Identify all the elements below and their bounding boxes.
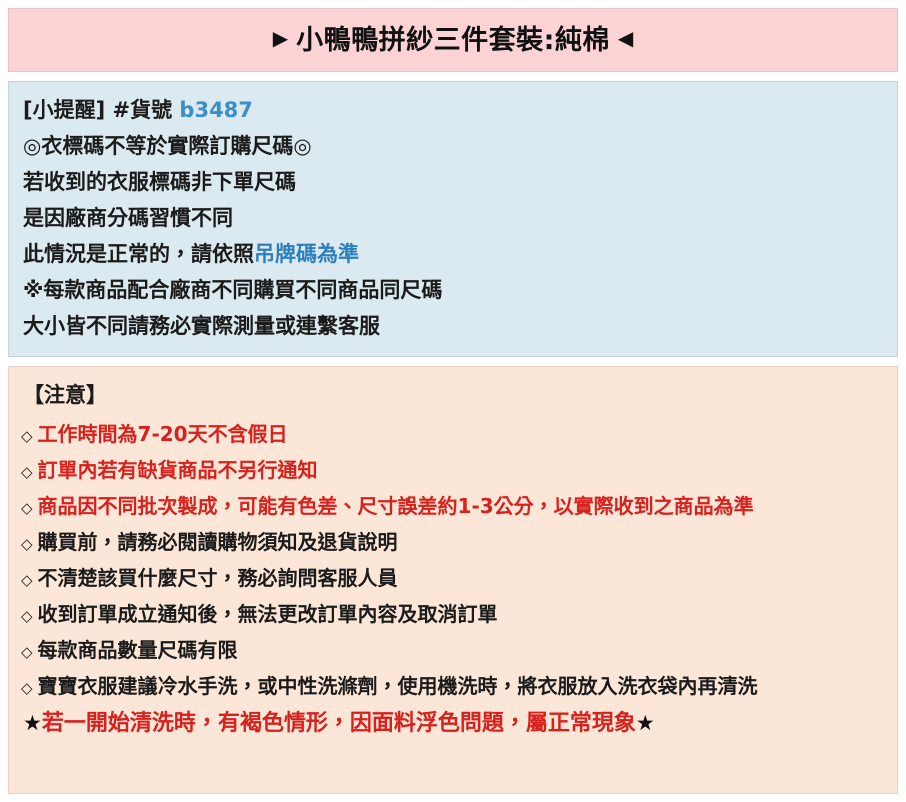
note-text: 每款商品數量尺碼有限 (38, 640, 238, 660)
diamond-bullet-icon: ◇ (21, 573, 33, 588)
note-text: 不清楚該買什麼尺寸，務必詢問客服人員 (38, 568, 398, 588)
diamond-bullet-icon: ◇ (21, 645, 33, 660)
hangtag-line: 此情況是正常的，請依照吊牌碼為準 (23, 236, 883, 272)
footer-note-text: 若一開始清洗時，有褐色情形，因面料浮色問題，屬正常現象 (42, 713, 636, 735)
triangle-left-icon: ◀ (618, 28, 633, 48)
sizing-notice-panel: [小提醒] #貨號 b3487 ◎衣標碼不等於實際訂購尺碼◎ 若收到的衣服標碼非… (8, 81, 898, 357)
product-title-banner: ▶ 小鴨鴨拼紗三件套裝:純棉 ◀ (8, 8, 898, 72)
diamond-bullet-icon: ◇ (21, 609, 33, 624)
note-item: ◇ 購買前，請務必閱讀購物須知及退貨說明 (21, 524, 883, 560)
diamond-bullet-icon: ◇ (21, 501, 33, 516)
note-text: 訂單內若有缺貨商品不另行通知 (38, 460, 318, 480)
product-code: b3487 (179, 98, 252, 122)
sizing-warning-2: 大小皆不同請務必實際測量或連繫客服 (23, 308, 883, 344)
note-text: 寶寶衣服建議冷水手洗，或中性洗滌劑，使用機洗時，將衣服放入洗衣袋內再清洗 (38, 676, 758, 696)
note-text: 工作時間為7-20天不含假日 (38, 424, 288, 444)
note-item: ◇ 工作時間為7-20天不含假日 (21, 416, 883, 452)
tip-label: [小提醒] #貨號 (23, 98, 172, 122)
note-item: ◇ 收到訂單成立通知後，無法更改訂單內容及取消訂單 (21, 596, 883, 632)
note-item: ◇ 每款商品數量尺碼有限 (21, 632, 883, 668)
sizing-warning-1: ※每款商品配合廠商不同購買不同商品同尺碼 (23, 272, 883, 308)
note-item: ◇ 寶寶衣服建議冷水手洗，或中性洗滌劑，使用機洗時，將衣服放入洗衣袋內再清洗 (21, 668, 883, 704)
diamond-bullet-icon: ◇ (21, 429, 33, 444)
color-bleed-footer-note: ★若一開始清洗時，有褐色情形，因面料浮色問題，屬正常現象★ (21, 704, 883, 739)
attention-notice-panel: 【注意】 ◇ 工作時間為7-20天不含假日 ◇ 訂單內若有缺貨商品不另行通知 ◇… (8, 366, 898, 794)
diamond-bullet-icon: ◇ (21, 465, 33, 480)
note-text: 購買前，請務必閱讀購物須知及退貨說明 (38, 532, 398, 552)
sizing-line-3: 是因廠商分碼習慣不同 (23, 200, 883, 236)
diamond-bullet-icon: ◇ (21, 537, 33, 552)
note-text: 商品因不同批次製成，可能有色差、尺寸誤差約1-3公分，以實際收到之商品為準 (38, 496, 754, 516)
product-code-row: [小提醒] #貨號 b3487 (23, 92, 883, 128)
note-item: ◇ 商品因不同批次製成，可能有色差、尺寸誤差約1-3公分，以實際收到之商品為準 (21, 488, 883, 524)
star-right-icon: ★ (636, 713, 655, 734)
attention-heading: 【注意】 (21, 377, 883, 416)
sizing-line-2: 若收到的衣服標碼非下單尺碼 (23, 164, 883, 200)
diamond-bullet-icon: ◇ (21, 681, 33, 696)
note-item: ◇ 不清楚該買什麼尺寸，務必詢問客服人員 (21, 560, 883, 596)
star-left-icon: ★ (23, 713, 42, 734)
hangtag-prefix: 此情況是正常的，請依照 (23, 242, 254, 266)
hangtag-highlight: 吊牌碼為準 (254, 242, 359, 266)
note-item: ◇ 訂單內若有缺貨商品不另行通知 (21, 452, 883, 488)
note-text: 收到訂單成立通知後，無法更改訂單內容及取消訂單 (38, 604, 498, 624)
page-title: 小鴨鴨拼紗三件套裝:純棉 (296, 27, 610, 54)
triangle-right-icon: ▶ (273, 28, 288, 48)
sizing-line-1: ◎衣標碼不等於實際訂購尺碼◎ (23, 128, 883, 164)
product-notice-page: ▶ 小鴨鴨拼紗三件套裝:純棉 ◀ [小提醒] #貨號 b3487 ◎衣標碼不等於… (0, 0, 906, 802)
